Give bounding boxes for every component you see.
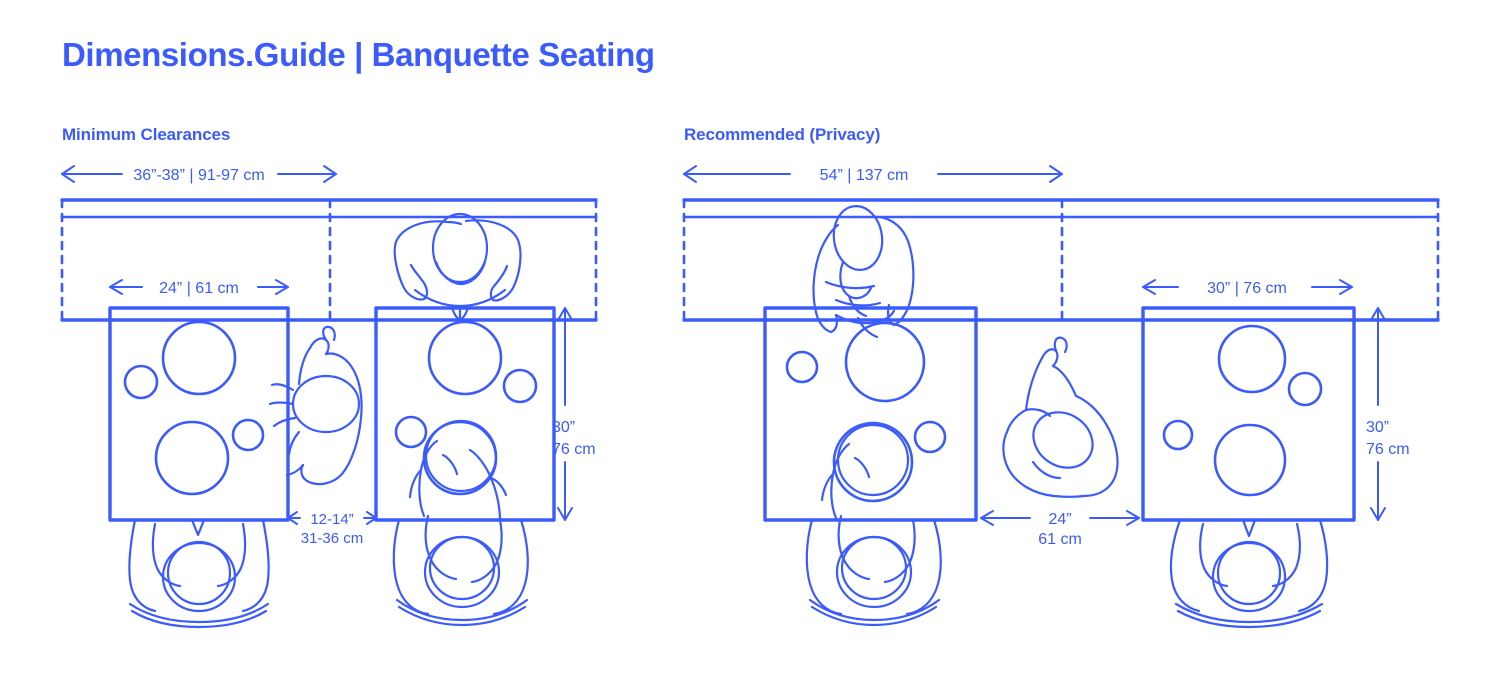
person-seated-bottom-right-1 (807, 425, 941, 625)
panel-minimum-clearances: 36”-38” | 91-97 cm 24” | 61 cm (62, 166, 596, 627)
dimension-depth-right-imperial: 30” (1366, 419, 1389, 436)
dimension-gap-right: 24” 61 cm (981, 511, 1139, 548)
plate-large (1219, 326, 1285, 392)
dimension-table-width-right: 30” | 76 cm (1143, 280, 1352, 297)
dimension-depth-left-metric: 76 cm (552, 441, 596, 458)
dimension-table-width-right-label: 30” | 76 cm (1207, 280, 1287, 297)
dimension-gap-left-metric: 31-36 cm (301, 530, 364, 547)
plate-large (846, 323, 924, 401)
plate-large (163, 322, 235, 394)
dimension-depth-right: 30” 76 cm (1366, 308, 1410, 520)
glass-small (504, 370, 536, 402)
dimension-depth-right-metric: 76 cm (1366, 441, 1410, 458)
person-on-banquette-left (395, 214, 521, 320)
glass-small (915, 422, 945, 452)
table-right-1 (765, 308, 976, 520)
glass-small (396, 417, 426, 447)
glass-small (1164, 421, 1192, 449)
glass-small (233, 420, 263, 450)
diagram-page: Dimensions.Guide | Banquette Seating Min… (0, 0, 1500, 700)
dimension-depth-left: 30” 76 cm (552, 308, 596, 520)
dimension-overall-right: 54” | 137 cm (684, 166, 1062, 184)
person-seated-bottom-left-1 (129, 520, 268, 627)
dimension-gap-right-imperial: 24” (1048, 511, 1071, 528)
plate-large (156, 422, 228, 494)
dimension-gap-left: 12-14” 31-36 cm (288, 511, 376, 547)
dimension-overall-right-label: 54” | 137 cm (820, 167, 909, 184)
dimension-table-width-left-label: 24” | 61 cm (159, 280, 239, 297)
dimension-depth-left-imperial: 30” (552, 419, 575, 436)
dimension-gap-left-imperial: 12-14” (310, 511, 353, 528)
table-left-2 (376, 308, 554, 520)
plate-large (429, 322, 501, 394)
dimension-overall-left: 36”-38” | 91-97 cm (62, 166, 336, 184)
person-in-gap-right (1003, 338, 1117, 497)
banquette-seating-plan-drawing: .ln{stroke:#3B5BFC;fill:none;stroke-line… (0, 0, 1500, 700)
plate-large (834, 423, 912, 501)
dimension-table-width-left: 24” | 61 cm (110, 280, 288, 297)
table-left-1 (110, 308, 288, 520)
banquette-bench-right (684, 200, 1438, 320)
glass-small (787, 352, 817, 382)
table-right-2 (1143, 308, 1354, 520)
banquette-bench-left (62, 200, 596, 320)
person-on-banquette-right (814, 203, 914, 337)
panel-recommended-privacy: 54” | 137 cm 30” | 76 cm (684, 166, 1438, 627)
plate-large (1215, 425, 1285, 495)
glass-small (1289, 373, 1321, 405)
person-in-gap-left (270, 327, 362, 484)
glass-small (125, 366, 157, 398)
dimension-gap-right-metric: 61 cm (1038, 531, 1082, 548)
person-seated-bottom-left-2 (394, 421, 528, 625)
dimension-overall-left-label: 36”-38” | 91-97 cm (133, 167, 264, 184)
person-seated-bottom-right-2 (1171, 520, 1327, 627)
